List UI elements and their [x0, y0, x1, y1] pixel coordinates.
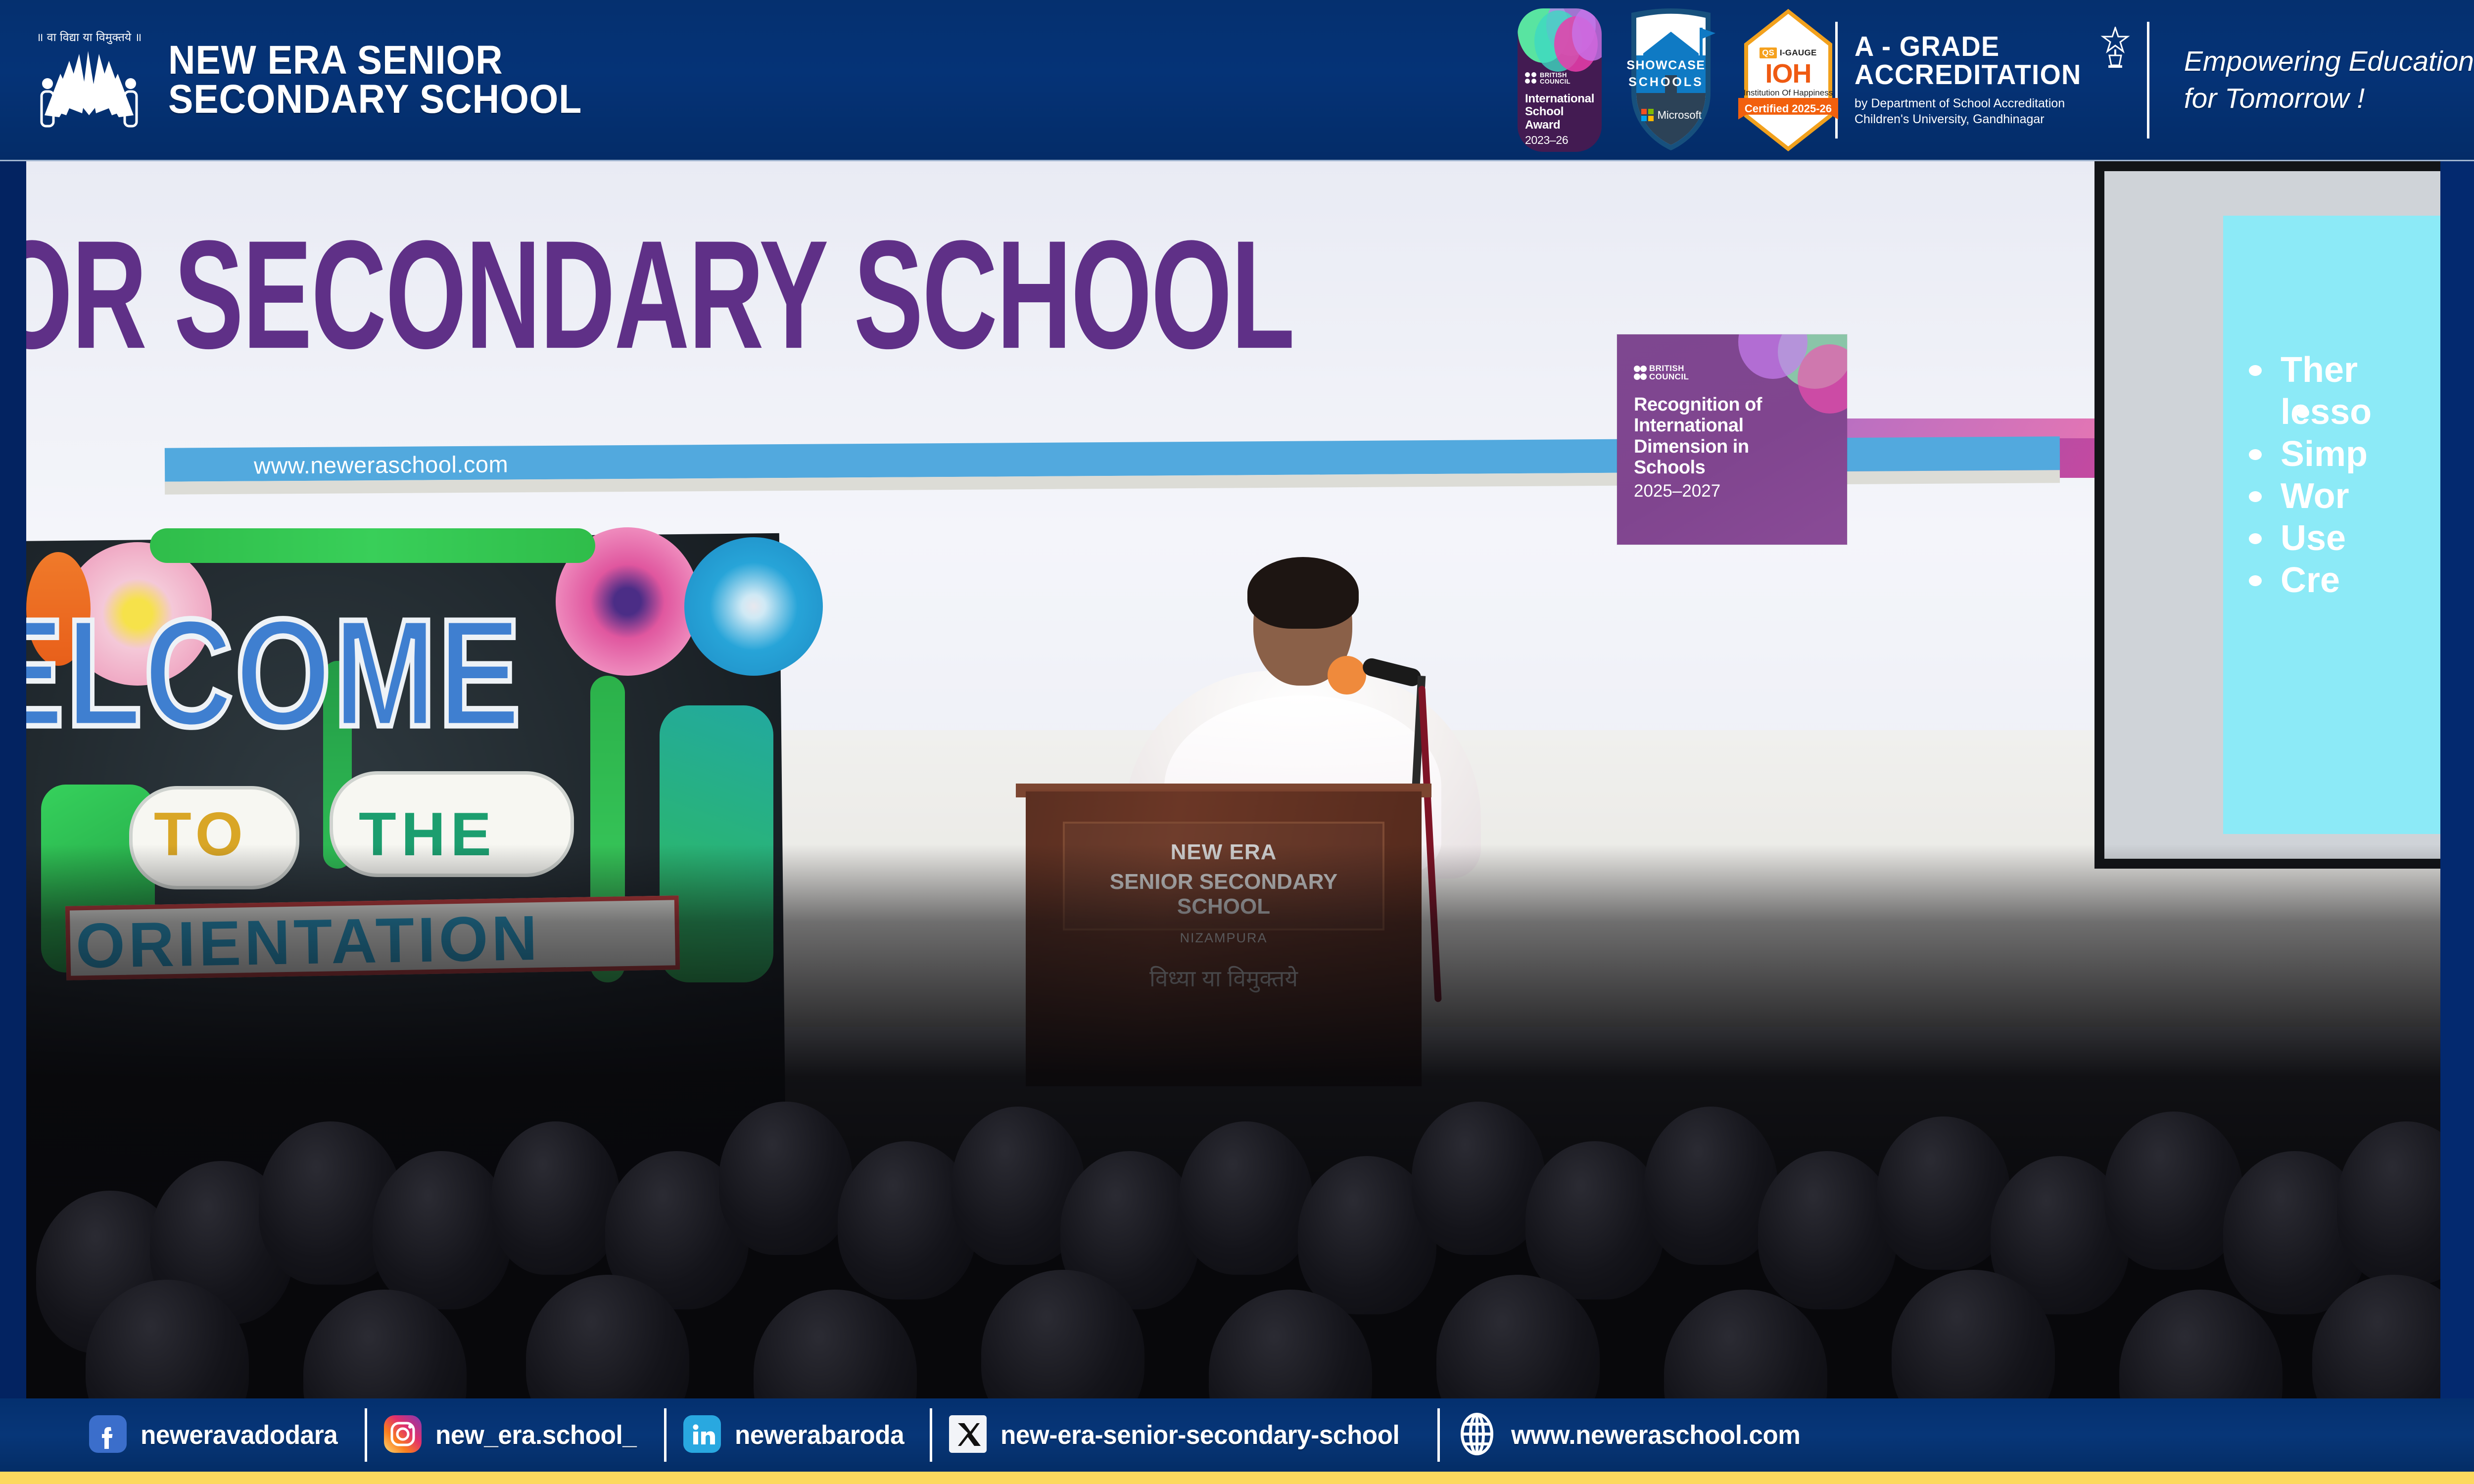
footer-link-linkedin[interactable]: newerabaroda: [666, 1398, 930, 1472]
header-tagline: Empowering Education for Tomorrow !: [2149, 43, 2474, 116]
site-header: ॥ वा विद्या या विमुक्तये ॥: [0, 0, 2474, 161]
audience-head: [2337, 1121, 2440, 1285]
bc-word-2: COUNCIL: [1540, 78, 1570, 85]
page-root: ॥ वा विद्या या विमुक्तये ॥: [0, 0, 2474, 1484]
accreditation-heading-1: A - GRADE: [1855, 33, 2082, 61]
banner-url-text: www.neweraschool.com: [254, 450, 508, 479]
audience-head: [373, 1151, 511, 1309]
website-url: www.neweraschool.com: [1511, 1420, 1800, 1450]
school-name-line-2: SECONDARY SCHOOL: [168, 80, 582, 119]
isa-title-line-2: School Award: [1525, 105, 1598, 132]
x-handle: new-era-senior-secondary-school: [1000, 1420, 1399, 1450]
social-footer: neweravadodara new_era.s: [0, 1398, 2474, 1472]
bc-card-word-1: BRITISH: [1649, 364, 1689, 372]
facebook-icon: [89, 1415, 127, 1455]
school-name: NEW ERA SENIOR SECONDARY SCHOOL: [168, 41, 618, 119]
photo-left-margin: [0, 161, 26, 1398]
audience-head: [1758, 1151, 1897, 1309]
igauge-text: I-GAUGE: [1780, 48, 1817, 58]
speaker-hair: [1247, 557, 1359, 629]
isa-title-line-1: International: [1525, 93, 1598, 105]
school-crest-book-icon: ॥ वा विद्या या विमुक्तये ॥: [30, 18, 148, 142]
microsoft-wordmark: Microsoft: [1658, 109, 1702, 122]
showcase-label-2: SCHOOLS: [1624, 75, 1708, 90]
accreditation-sub-line-1: by Department of School Accreditation: [1855, 95, 2130, 111]
bc-recognition-card: BRITISH COUNCIL Recognition of Internati…: [1617, 334, 1847, 545]
qs-mark: QS: [1760, 47, 1777, 58]
footer-link-instagram[interactable]: new_era.school_: [367, 1398, 664, 1472]
event-photograph: OR SECONDARY SCHOOL www.neweraschool.com…: [26, 161, 2440, 1398]
trophy-star-icon: [2100, 27, 2130, 71]
microphone-windscreen: [1328, 656, 1366, 695]
welcome-word: ELCOME: [26, 585, 523, 761]
audience-crowd: [26, 844, 2440, 1398]
isa-years: 2023–26: [1525, 134, 1598, 147]
slide-bullet-list: Ther lesso Simp Wor Use Cre: [2233, 349, 2440, 602]
accreditation-block: A - GRADE ACCREDITATION by Department of…: [1838, 33, 2147, 127]
badge-qs-igauge-ioh: QS I-GAUGE IOH Institution Of Happiness …: [1741, 6, 1835, 154]
audience-head: [719, 1102, 853, 1255]
accreditation-sub-line-2: Children's University, Gandhinagar: [1855, 111, 2130, 127]
slide-bullet-3: Wor: [2233, 475, 2440, 517]
ioh-subtitle: Institution Of Happiness: [1744, 88, 1833, 98]
accreditation-badges: BRITISH COUNCIL International School Awa…: [1498, 6, 1835, 154]
paper-flower-blue: [684, 537, 823, 676]
slide-bullet-5: Cre: [2233, 559, 2440, 602]
slide-bullet-4: Use: [2233, 517, 2440, 559]
brand-block: ॥ वा विद्या या विमुक्तये ॥: [0, 18, 618, 142]
instagram-handle: new_era.school_: [435, 1420, 636, 1450]
facebook-handle: neweravadodara: [141, 1420, 337, 1450]
bc-card-line-4: Schools: [1634, 457, 1833, 478]
instagram-icon: [384, 1415, 422, 1455]
bc-word-1: BRITISH: [1540, 72, 1570, 78]
footer-accent-bar: [0, 1472, 2474, 1484]
bc-card-years: 2025–2027: [1634, 481, 1833, 501]
accreditation-heading-2: ACCREDITATION: [1855, 61, 2082, 89]
footer-link-facebook[interactable]: neweravadodara: [0, 1398, 365, 1472]
british-council-logo-icon: BRITISH COUNCIL: [1525, 72, 1598, 85]
footer-link-x-twitter[interactable]: new-era-senior-secondary-school: [932, 1398, 1437, 1472]
paper-leaf-garland-top: [150, 528, 595, 563]
slide-bullet-2: Simp: [2233, 433, 2440, 475]
badge-international-school-award: BRITISH COUNCIL International School Awa…: [1518, 8, 1602, 152]
slide-bullet-1-wrap: lesso: [2281, 391, 2440, 433]
tagline-line-1: Empowering Education: [2184, 43, 2474, 80]
linkedin-icon: [683, 1415, 721, 1455]
audience-head: [754, 1290, 917, 1398]
school-name-line-1: NEW ERA SENIOR: [168, 41, 582, 80]
audience-head: [491, 1121, 620, 1275]
x-twitter-icon: [949, 1415, 987, 1455]
audience-head: [1525, 1141, 1664, 1299]
bc-card-word-2: COUNCIL: [1649, 372, 1689, 381]
svg-text:॥ वा विद्या या विमुक्तये ॥: ॥ वा विद्या या विमुक्तये ॥: [37, 31, 142, 45]
footer-link-website[interactable]: www.neweraschool.com: [1440, 1398, 1832, 1472]
slide-bullet-1: Ther: [2233, 349, 2440, 391]
stage-banner-text: OR SECONDARY SCHOOL: [26, 206, 1294, 384]
linkedin-handle: newerabaroda: [735, 1420, 904, 1450]
bc-card-line-3: Dimension in: [1634, 436, 1833, 458]
globe-icon: [1457, 1412, 1497, 1458]
tagline-line-2: for Tomorrow !: [2184, 80, 2474, 117]
microsoft-logo-icon: [1641, 109, 1654, 121]
audience-head: [2104, 1112, 2243, 1270]
badge-microsoft-showcase-school: SHOWCASE SCHOOLS Microsoft: [1624, 6, 1718, 154]
bc-card-line-2: International: [1634, 415, 1833, 436]
showcase-label-1: SHOWCASE: [1624, 58, 1708, 73]
ioh-acronym: IOH: [1765, 60, 1811, 87]
audience-head: [1179, 1121, 1313, 1275]
